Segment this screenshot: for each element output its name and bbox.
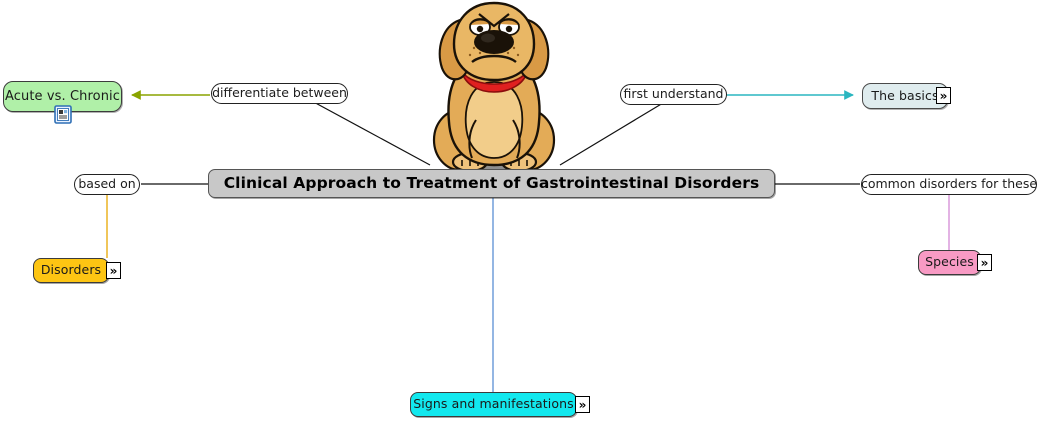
expand-chevrons-icon[interactable]: » (575, 396, 590, 413)
edge-label-differentiate-between[interactable]: differentiate between (211, 83, 348, 104)
note-document-icon[interactable] (54, 105, 72, 124)
node-disorders[interactable]: Disorders (33, 258, 109, 283)
expand-chevrons-icon[interactable]: » (936, 87, 951, 104)
node-species[interactable]: Species (918, 250, 981, 275)
edge-central-to-differentiate (310, 100, 430, 165)
sad-dog-illustration (424, 0, 564, 175)
edge-label-text: differentiate between (212, 87, 347, 100)
node-signs-and-manifestations[interactable]: Signs and manifestations (410, 392, 577, 417)
expand-chevrons-icon[interactable]: » (977, 254, 992, 271)
expand-glyph: » (110, 265, 118, 277)
mindmap-canvas: Clinical Approach to Treatment of Gastro… (0, 0, 1042, 422)
edge-label-text: first understand (624, 88, 724, 101)
edge-label-based-on[interactable]: based on (74, 174, 140, 195)
edge-label-common-disorders-for-these[interactable]: common disorders for these (861, 174, 1037, 195)
central-topic-label: Clinical Approach to Treatment of Gastro… (224, 176, 760, 192)
expand-chevrons-icon[interactable]: » (106, 262, 121, 279)
edge-label-first-understand[interactable]: first understand (620, 84, 727, 105)
node-label: Signs and manifestations (413, 398, 574, 411)
node-label: Species (925, 256, 974, 269)
expand-glyph: » (940, 90, 948, 102)
expand-glyph: » (981, 257, 989, 269)
expand-glyph: » (579, 399, 587, 411)
central-topic-node[interactable]: Clinical Approach to Treatment of Gastro… (208, 169, 775, 198)
node-label: Disorders (41, 264, 101, 277)
node-label: The basics (871, 90, 938, 103)
edge-central-to-first-understand (560, 100, 668, 165)
node-label: Acute vs. Chronic (5, 90, 120, 103)
edge-label-text: common disorders for these (861, 178, 1037, 191)
edge-label-text: based on (78, 178, 135, 191)
